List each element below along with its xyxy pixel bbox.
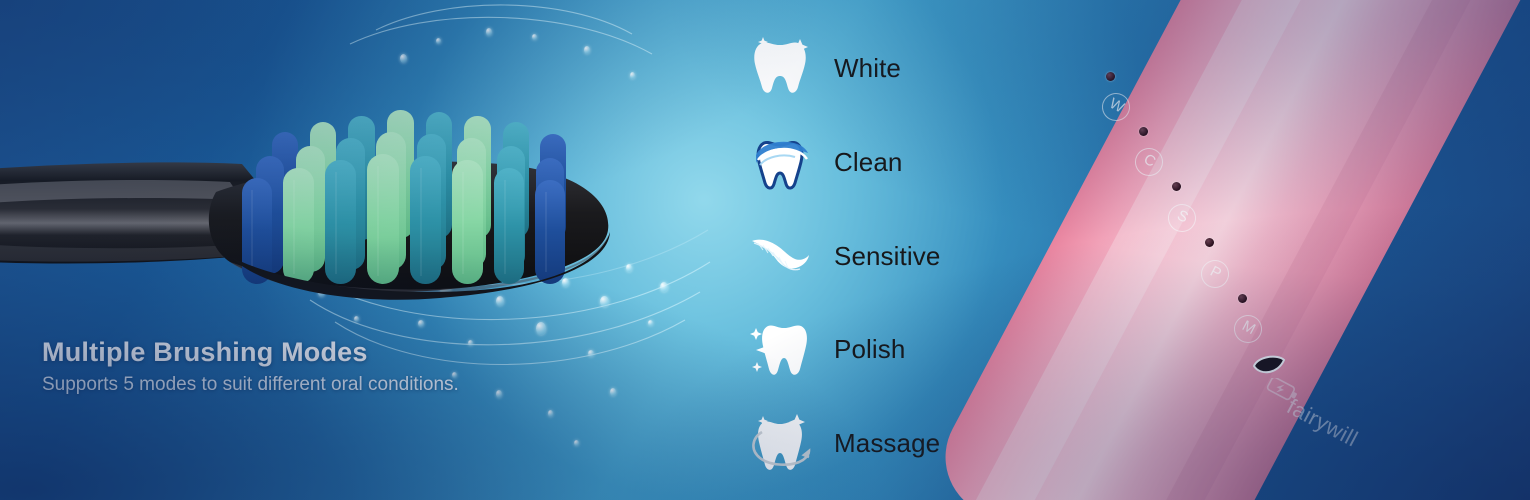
brushing-modes-list: White Clean Sensitive xyxy=(748,18,1008,488)
battery-charging-icon xyxy=(1266,378,1302,402)
product-banner: Multiple Brushing Modes Supports 5 modes… xyxy=(0,0,1530,500)
mode-item-sensitive: Sensitive xyxy=(748,220,940,292)
mode-label: Clean xyxy=(834,147,902,178)
mode-label: Polish xyxy=(834,334,905,365)
mode-item-massage: Massage xyxy=(748,407,940,479)
handle-indicator-dot xyxy=(1106,72,1115,81)
tooth-sparkle-icon xyxy=(748,35,812,101)
power-indicator xyxy=(1252,352,1286,378)
mode-label: Sensitive xyxy=(834,241,940,272)
toothbrush-head-image xyxy=(0,60,680,360)
feather-icon xyxy=(748,223,812,289)
subtext: Supports 5 modes to suit different oral … xyxy=(42,373,482,397)
text-block: Multiple Brushing Modes Supports 5 modes… xyxy=(42,338,482,397)
handle-indicator-dot xyxy=(1139,127,1148,136)
handle-badge-p: P xyxy=(1196,255,1234,293)
brand-wordmark: fairywill xyxy=(1282,394,1362,453)
mode-label: Massage xyxy=(834,428,940,459)
mode-label: White xyxy=(834,53,901,84)
tooth-shine-icon xyxy=(748,316,812,382)
headline: Multiple Brushing Modes xyxy=(42,338,482,368)
handle-badge-s: S xyxy=(1163,199,1201,237)
handle-badge-c: C xyxy=(1130,143,1168,181)
handle-indicator-dot xyxy=(1172,182,1181,191)
mode-item-white: White xyxy=(748,32,901,104)
tooth-swoosh-icon xyxy=(748,129,812,195)
tooth-orbit-icon xyxy=(748,410,812,476)
handle-badge-m: M xyxy=(1229,310,1267,348)
handle-badge-w: W xyxy=(1097,88,1135,126)
mode-item-clean: Clean xyxy=(748,126,902,198)
handle-indicator-dot xyxy=(1205,238,1214,247)
handle-indicator-dot xyxy=(1238,294,1247,303)
mode-item-polish: Polish xyxy=(748,313,905,385)
